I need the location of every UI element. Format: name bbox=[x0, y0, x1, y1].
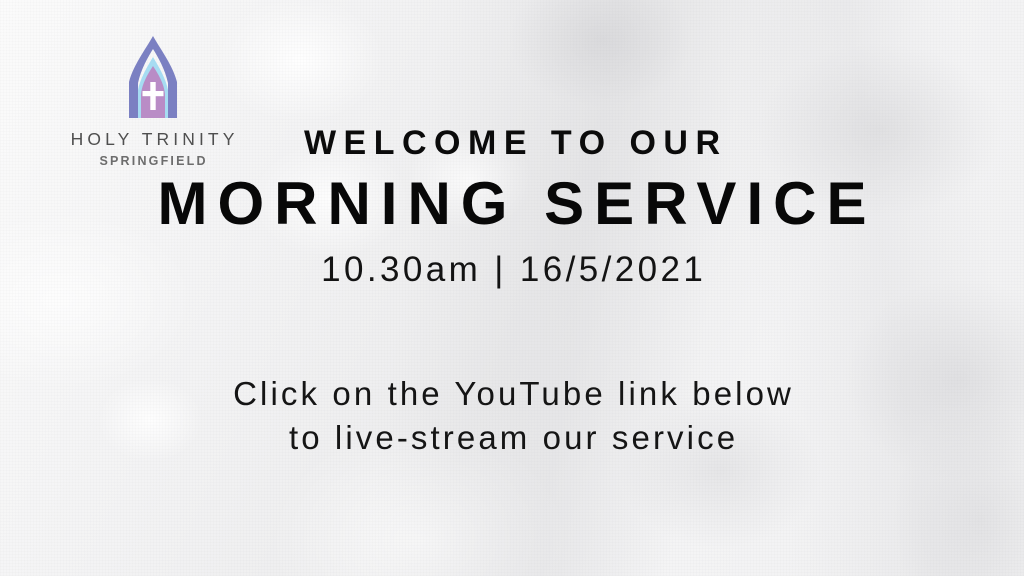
instructions-line-2: to live-stream our service bbox=[0, 416, 1024, 460]
service-datetime: 10.30am | 16/5/2021 bbox=[0, 252, 1024, 287]
instructions-line-1: Click on the YouTube link below bbox=[0, 372, 1024, 416]
service-title: MORNING SERVICE bbox=[0, 174, 1024, 234]
logo-cross-horizontal bbox=[142, 91, 163, 96]
headline-group: WELCOME TO OUR MORNING SERVICE 10.30am |… bbox=[0, 126, 1024, 287]
church-arch-cross-icon bbox=[107, 30, 199, 122]
service-announcement-slide: HOLY TRINITY SPRINGFIELD WELCOME TO OUR … bbox=[0, 0, 1024, 576]
instructions-block: Click on the YouTube link below to live-… bbox=[0, 372, 1024, 460]
welcome-heading: WELCOME TO OUR bbox=[0, 126, 1024, 160]
